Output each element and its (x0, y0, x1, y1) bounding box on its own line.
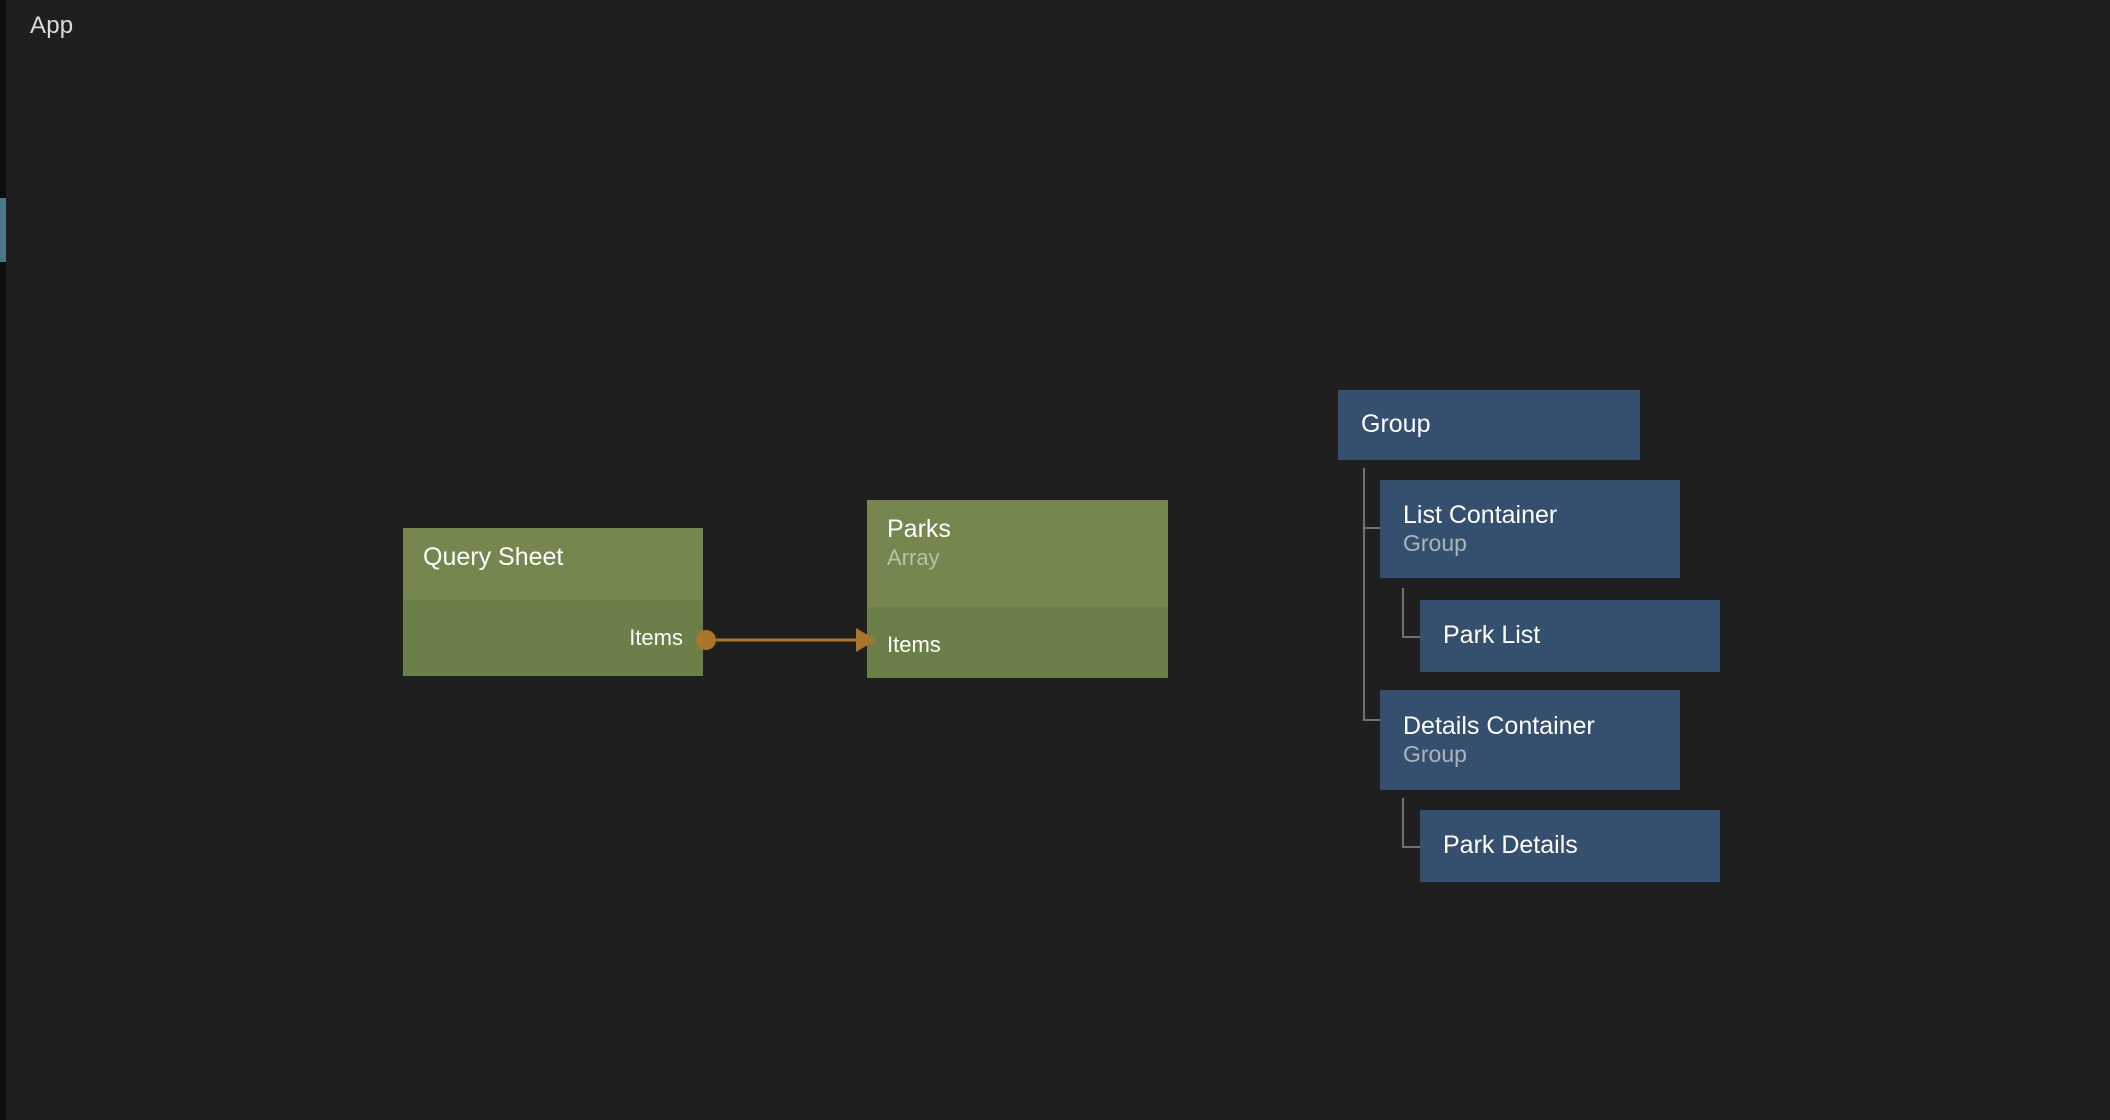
data-node-query-sheet[interactable]: Query Sheet Items (403, 528, 703, 676)
tree-node-subtitle: Group (1403, 741, 1680, 767)
port-row-items-input[interactable]: Items (867, 607, 1168, 678)
data-node-parks[interactable]: Parks Array Items (867, 500, 1168, 678)
tree-line-elbow-park-details (1402, 846, 1422, 848)
left-scrollbar-track[interactable] (0, 0, 6, 1120)
tree-line-trunk-details-container (1402, 798, 1404, 848)
tree-node-details-container[interactable]: Details Container Group (1380, 690, 1680, 790)
tree-node-title: Group (1361, 411, 1640, 439)
app-title: App (30, 12, 73, 40)
data-node-subtitle: Array (887, 545, 1148, 571)
tree-node-title: Park List (1443, 622, 1720, 650)
tree-line-elbow-park-list (1402, 636, 1422, 638)
tree-node-group[interactable]: Group (1338, 390, 1640, 460)
tree-node-title: Park Details (1443, 832, 1720, 860)
tree-node-list-container[interactable]: List Container Group (1380, 480, 1680, 578)
editor-canvas[interactable]: App Query Sheet Items Parks Array Items (0, 0, 2110, 1120)
tree-node-subtitle: Group (1403, 530, 1680, 556)
tree-node-park-list[interactable]: Park List (1420, 600, 1720, 672)
tree-node-title: Details Container (1403, 713, 1680, 741)
tree-node-park-details[interactable]: Park Details (1420, 810, 1720, 882)
port-label: Items (629, 625, 683, 651)
data-node-header: Query Sheet (403, 528, 703, 600)
data-node-header: Parks Array (867, 500, 1168, 607)
tree-line-trunk-group (1363, 468, 1365, 721)
port-label: Items (887, 632, 941, 658)
connection-query-sheet-to-parks[interactable] (696, 628, 876, 652)
left-scrollbar-thumb[interactable] (0, 198, 6, 262)
port-row-items-output[interactable]: Items (403, 600, 703, 676)
tree-line-trunk-list-container (1402, 588, 1404, 638)
data-node-title: Parks (887, 516, 1148, 543)
tree-node-title: List Container (1403, 502, 1680, 530)
data-node-title: Query Sheet (423, 544, 683, 571)
